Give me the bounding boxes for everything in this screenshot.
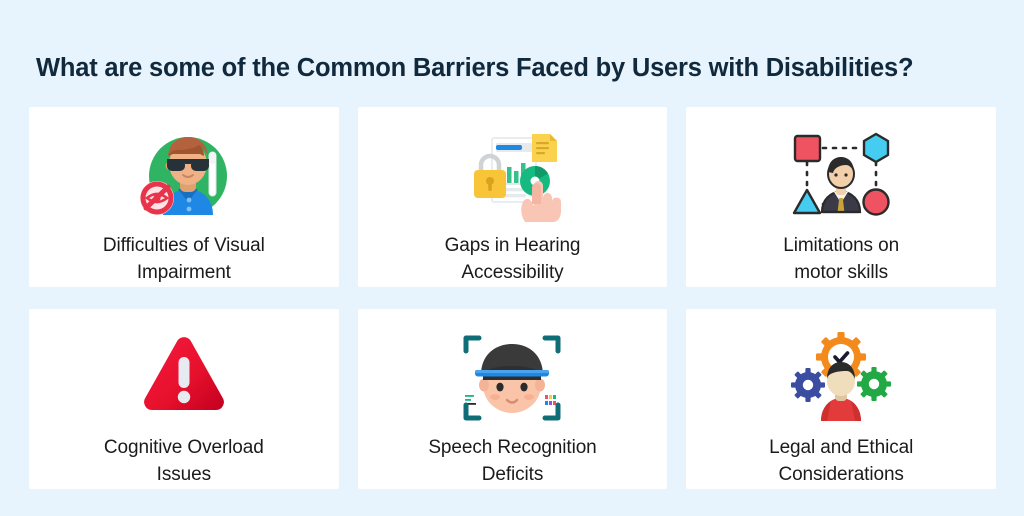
card-motor-skills[interactable]: Limitations on motor skills	[686, 107, 996, 287]
card-label: Legal and Ethical Considerations	[755, 435, 927, 489]
barriers-card-grid: Difficulties of Visual Impairment	[29, 107, 996, 482]
person-gears-icon	[782, 325, 900, 429]
card-label: Speech Recognition Deficits	[414, 435, 610, 489]
card-label: Cognitive Overload Issues	[90, 435, 278, 489]
card-hearing-accessibility[interactable]: Gaps in Hearing Accessibility	[358, 107, 668, 287]
infographic-page: What are some of the Common Barriers Fac…	[0, 0, 1024, 516]
blind-person-icon	[125, 123, 243, 227]
card-label: Gaps in Hearing Accessibility	[431, 233, 595, 287]
card-label: Limitations on motor skills	[769, 233, 913, 287]
card-legal-ethical[interactable]: Legal and Ethical Considerations	[686, 309, 996, 489]
page-title: What are some of the Common Barriers Fac…	[36, 53, 996, 84]
person-shapes-network-icon	[782, 123, 900, 227]
card-visual-impairment[interactable]: Difficulties of Visual Impairment	[29, 107, 339, 287]
card-speech-recognition[interactable]: Speech Recognition Deficits	[358, 309, 668, 489]
warning-triangle-icon	[125, 325, 243, 429]
card-cognitive-overload[interactable]: Cognitive Overload Issues	[29, 309, 339, 489]
face-recognition-scan-icon	[453, 325, 571, 429]
secure-dashboard-hand-icon	[453, 123, 571, 227]
card-label: Difficulties of Visual Impairment	[89, 233, 279, 287]
